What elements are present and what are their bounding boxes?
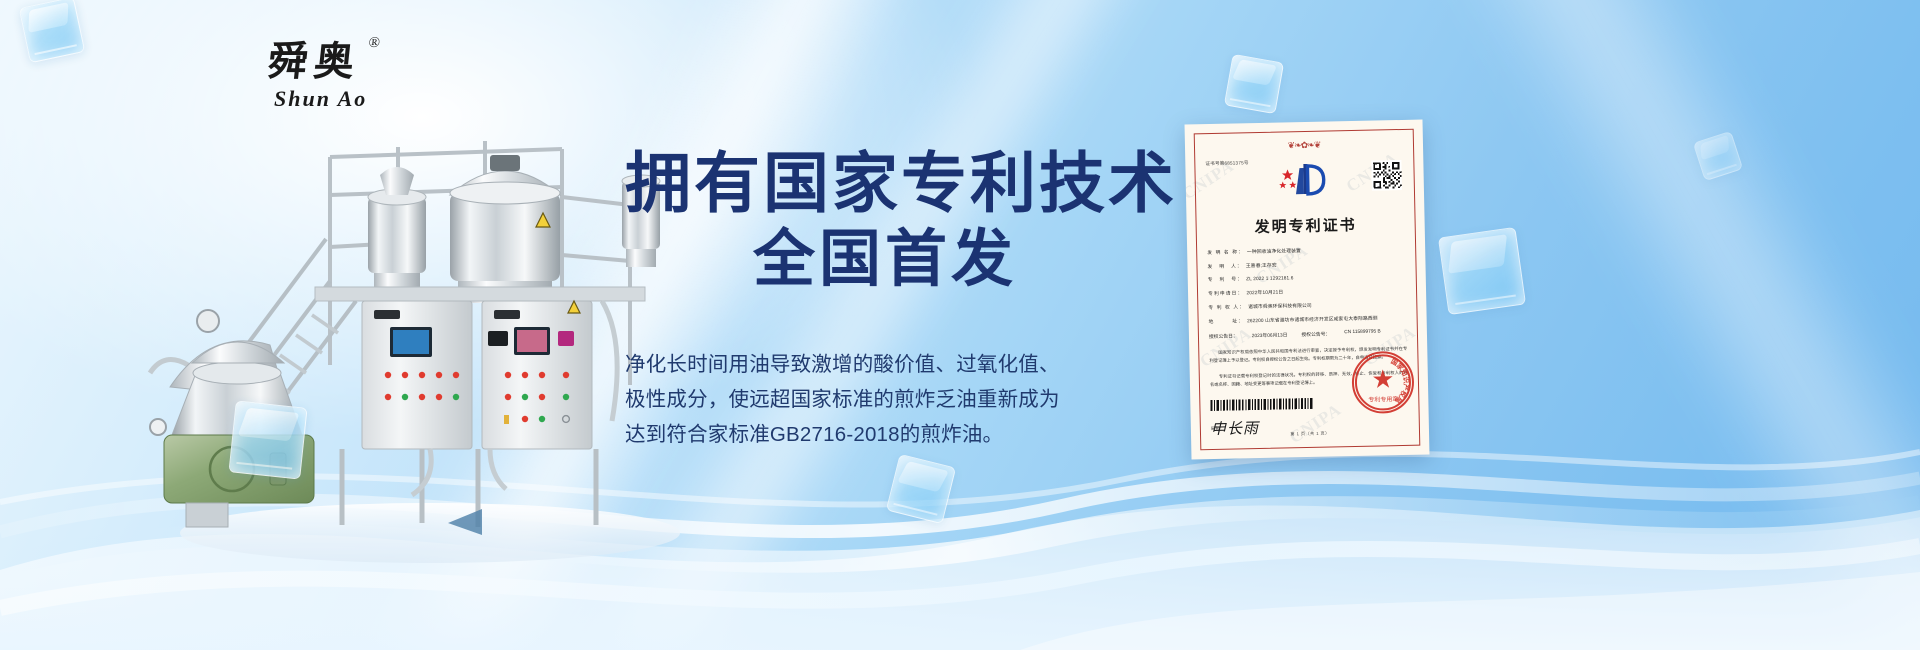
brand-logo: 舜奥® Shun Ao <box>268 42 398 112</box>
cert-field-key: 专利申请日： <box>1208 292 1244 299</box>
headline-block: 拥有国家专利技术 全国首发 净化长时间用油导致激增的酸价值、过氧化值、极性成分，… <box>625 148 1145 452</box>
registered-trademark-icon: ® <box>368 36 381 51</box>
grant-no-value: CN 115899795 B <box>1344 330 1381 338</box>
cert-field-row: 专 利 号： ZL 2022 1 1292181.6 <box>1208 274 1406 284</box>
cert-field-value: 一种回收油净化处理装置 <box>1247 249 1301 256</box>
cert-field-row: 地 址： 262200 山东省潍坊市诸城市经济开发区咸家屯大泰际路西侧 <box>1209 316 1407 326</box>
cert-field-row: 专 利 权 人： 诸城市舜奥环保科技有限公司 <box>1208 302 1406 312</box>
grant-date-label: 授权公告日： <box>1209 333 1238 341</box>
svg-text:专利专用章: 专利专用章 <box>1368 395 1398 404</box>
certificate-title: 发明专利证书 <box>1206 213 1404 238</box>
cert-field-row: 发 明 名 称： 一种回收油净化处理装置 <box>1207 247 1405 257</box>
cert-field-key: 发 明 人： <box>1207 264 1243 271</box>
cert-field-value: ZL 2022 1 1292181.6 <box>1246 277 1293 284</box>
official-seal: 国家知识产权局 专利专用章 <box>1351 351 1414 414</box>
cert-field-key: 地 址： <box>1209 319 1245 326</box>
headline-line-1: 拥有国家专利技术 <box>625 148 1145 219</box>
qr-code <box>1371 160 1402 191</box>
brand-logo-en: Shun Ao <box>274 86 398 112</box>
brand-logo-cn: 舜奥® <box>266 42 362 82</box>
ice-cube-highlight <box>237 407 299 440</box>
cert-field-value: 王喜春;王存宏 <box>1246 263 1277 270</box>
ice-cube-decor <box>1438 227 1526 315</box>
cert-field-value: 262200 山东省潍坊市诸城市经济开发区咸家屯大泰际路西侧 <box>1247 316 1378 325</box>
cert-field-value: 诸城市舜奥环保科技有限公司 <box>1248 304 1312 312</box>
headline-line-2: 全国首发 <box>625 225 1145 294</box>
cert-field-key: 发 明 名 称： <box>1207 250 1244 257</box>
grant-date-value: 2023年06月13日 <box>1252 332 1288 340</box>
ice-cube-decor <box>19 0 85 63</box>
barcode <box>1210 398 1315 411</box>
ice-cube-decor <box>228 400 307 479</box>
cert-grant-row: 授权公告日： 2023年06月13日 授权公告号： CN 115899795 B <box>1209 329 1407 340</box>
cert-field-value: 2022年10月21日 <box>1246 291 1283 298</box>
brand-logo-cn-text: 舜奥 <box>266 39 363 84</box>
seal-graphic: 国家知识产权局 专利专用章 <box>1353 353 1412 412</box>
grant-no-label: 授权公告号： <box>1301 331 1330 339</box>
cert-field-row: 发 明 人： 王喜春;王存宏 <box>1207 261 1405 271</box>
patent-certificate[interactable]: CNIPA CNIPA CNIPA CNIPA CNIPA CNIPA ❦❧✿❧… <box>1185 120 1430 460</box>
cert-field-key: 专 利 号： <box>1208 278 1244 285</box>
cert-field-row: 专利申请日： 2022年10月21日 <box>1208 288 1406 298</box>
description-paragraph: 净化长时间用油导致激增的酸价值、过氧化值、极性成分，使远超国家标准的煎炸乏油重新… <box>625 347 1080 453</box>
ice-cube-decor <box>1693 131 1743 181</box>
cert-field-key: 专 利 权 人： <box>1208 305 1245 312</box>
promo-banner: 舜奥® Shun Ao <box>0 0 1920 650</box>
ice-cube-decor <box>1224 54 1284 114</box>
certificate-ornament: ❦❧✿❧❦ <box>1205 139 1403 152</box>
certificate-fields: 发 明 名 称： 一种回收油净化处理装置 发 明 人： 王喜春;王存宏 专 利 … <box>1207 247 1407 341</box>
cnipa-emblem-icon <box>1277 161 1332 196</box>
